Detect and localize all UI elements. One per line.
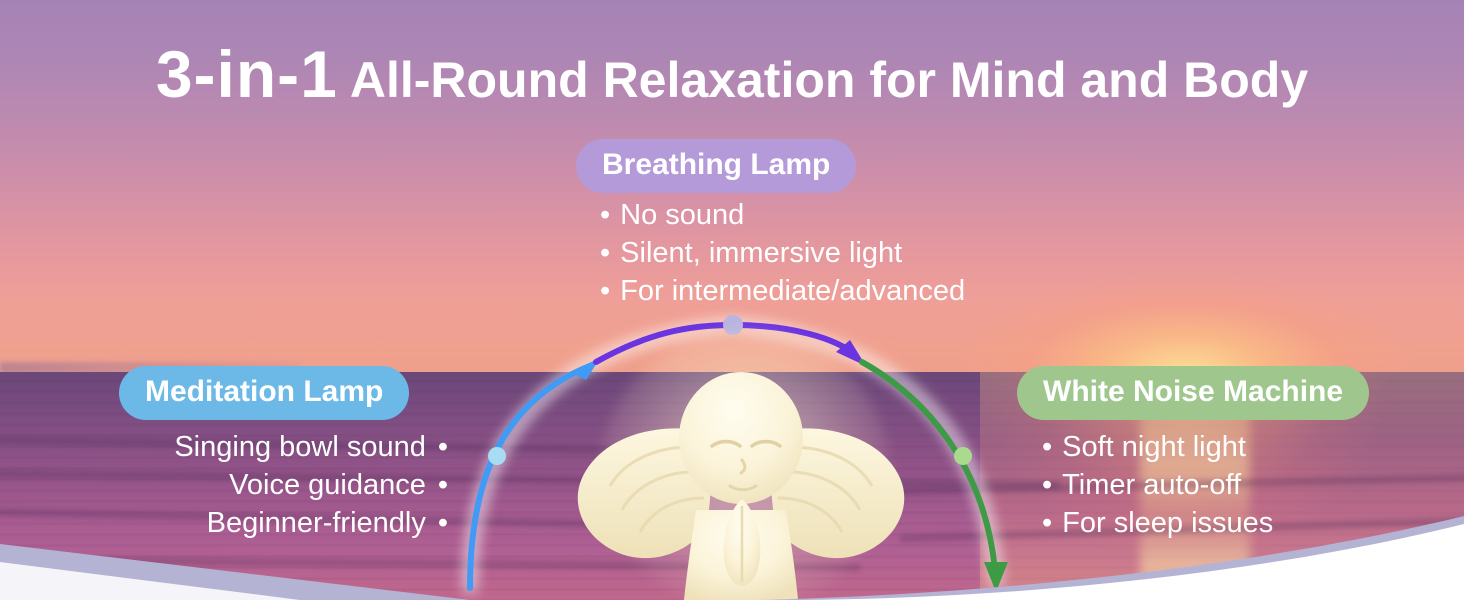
feature-list-breathing-lamp: •No sound •Silent, immersive light •For … xyxy=(600,196,965,310)
list-item-label: No sound xyxy=(620,199,744,231)
list-item: Singing bowl sound• xyxy=(118,428,448,466)
bullet-glyph: • xyxy=(600,272,610,310)
list-item-label: Silent, immersive light xyxy=(620,237,902,269)
badge-breathing-lamp[interactable]: Breathing Lamp xyxy=(576,139,856,193)
list-item-label: Singing bowl sound xyxy=(174,431,426,463)
bullet-glyph: • xyxy=(1042,428,1052,466)
list-item: •Timer auto-off xyxy=(1042,466,1273,504)
list-item: •Soft night light xyxy=(1042,428,1273,466)
meditation-arc-dot xyxy=(488,447,506,465)
right-wave-shape xyxy=(800,524,1464,600)
bullet-glyph: • xyxy=(1042,466,1052,504)
list-item-label: Timer auto-off xyxy=(1062,469,1241,501)
list-item: Voice guidance• xyxy=(118,466,448,504)
list-item-label: For intermediate/advanced xyxy=(620,275,965,307)
bullet-glyph: • xyxy=(600,234,610,272)
list-item: •For intermediate/advanced xyxy=(600,272,965,310)
bottom-wave-decoration xyxy=(0,510,1464,600)
bullet-glyph: • xyxy=(600,196,610,234)
whitenoise-arc-dot xyxy=(954,447,972,465)
promo-banner: 3-in-1All-Round Relaxation for Mind and … xyxy=(0,0,1464,600)
badge-white-noise-machine[interactable]: White Noise Machine xyxy=(1017,366,1369,420)
bullet-glyph: • xyxy=(438,466,448,504)
list-item: •No sound xyxy=(600,196,965,234)
angel-head xyxy=(679,372,803,504)
list-item-label: Voice guidance xyxy=(229,469,426,501)
badge-meditation-lamp[interactable]: Meditation Lamp xyxy=(119,366,409,420)
list-item: •Silent, immersive light xyxy=(600,234,965,272)
list-item-label: Soft night light xyxy=(1062,431,1246,463)
bullet-glyph: • xyxy=(438,428,448,466)
